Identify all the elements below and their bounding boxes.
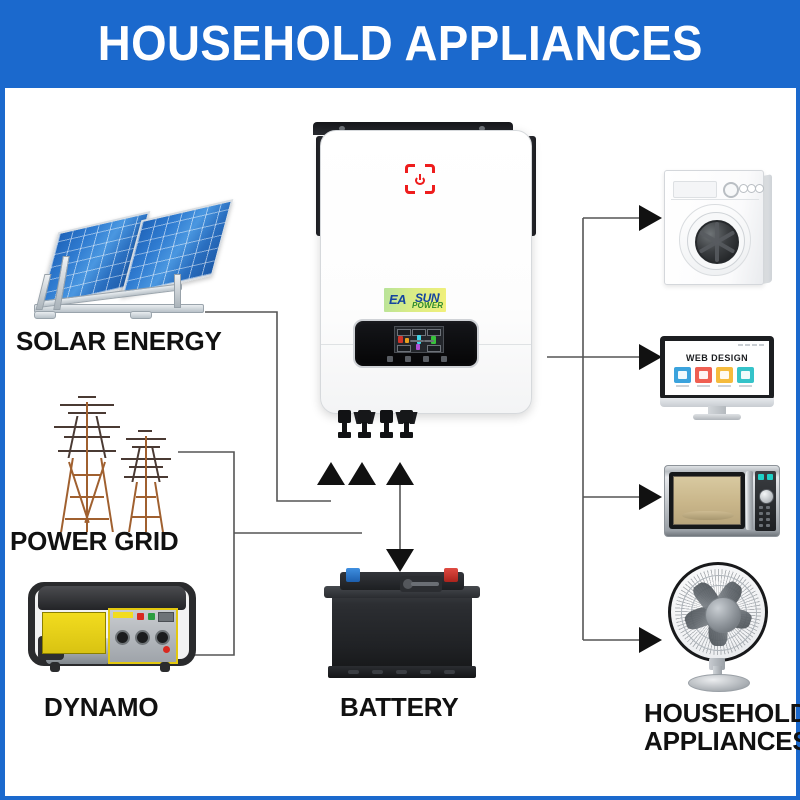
- inverter-display-bezel[interactable]: [353, 319, 479, 368]
- electric-fan-icon: [662, 562, 782, 690]
- washer-detergent-drawer: [673, 181, 717, 198]
- screen-tile-row: [674, 367, 754, 383]
- microwave-door: [669, 472, 745, 529]
- battery-positive-terminal: [444, 568, 458, 582]
- car-battery-icon: [322, 566, 482, 686]
- appliances-label-line1: HOUSEHOLD: [644, 700, 800, 728]
- battery-case: [332, 590, 472, 670]
- tower-large: [48, 396, 126, 532]
- logo-registered: ®: [437, 292, 440, 297]
- microwave-turntable: [682, 511, 734, 520]
- tower-small: [116, 430, 176, 532]
- monitor-screen: WEB DESIGN: [665, 341, 769, 395]
- power-button-icon[interactable]: [405, 164, 435, 194]
- dc-connector: [338, 410, 351, 440]
- generator-icon: [28, 578, 196, 674]
- logo-text-power: POWER: [412, 301, 443, 310]
- screen-tile-3: [716, 367, 733, 383]
- arrow-right-washer: [639, 205, 662, 231]
- screen-nav-dashes: [738, 344, 764, 346]
- fan-cage: [668, 562, 768, 662]
- computer-monitor-icon: WEB DESIGN: [660, 336, 778, 420]
- washer-door-glass: [695, 220, 739, 264]
- washing-machine-icon: [664, 170, 772, 288]
- battery-handle: [400, 576, 442, 592]
- washer-door: [679, 204, 751, 276]
- screen-tile-1: [674, 367, 691, 383]
- screen-tile-4: [737, 367, 754, 383]
- arrow-right-fan: [639, 627, 662, 653]
- lcd-display-icon: [394, 326, 444, 353]
- dynamo-label: DYNAMO: [44, 694, 158, 722]
- microwave-oven-icon: [664, 465, 780, 541]
- washer-door-ring: [687, 212, 745, 270]
- arrow-up-battery-in: [386, 462, 414, 485]
- down-key[interactable]: [423, 356, 429, 362]
- microwave-control-panel: [755, 471, 776, 531]
- generator-side-panel: [42, 612, 106, 654]
- battery-label: BATTERY: [340, 694, 458, 722]
- enter-key[interactable]: [441, 356, 447, 362]
- microwave-handle: [746, 471, 753, 530]
- arrow-right-monitor: [639, 344, 662, 370]
- washer-control-panel: [671, 179, 759, 200]
- esc-key[interactable]: [387, 356, 393, 362]
- screen-tile-2: [695, 367, 712, 383]
- ac-connector: [380, 410, 393, 440]
- generator-tank: [38, 586, 186, 610]
- screen-title: WEB DESIGN: [665, 353, 769, 363]
- washer-side-panel: [763, 174, 772, 284]
- inverter-connector-row: [295, 410, 545, 446]
- arrow-up-grid: [348, 462, 376, 485]
- microwave-dial: [759, 489, 774, 504]
- household-appliances-label: HOUSEHOLD APPLIANCES: [644, 700, 800, 756]
- logo-text-ea: EA: [389, 292, 406, 307]
- arrow-up-solar: [317, 462, 345, 485]
- solar-panel-icon: [18, 216, 218, 326]
- battery-negative-terminal: [346, 568, 360, 582]
- appliances-label-line2: APPLIANCES: [644, 728, 800, 756]
- inverter-unit[interactable]: EA SUN ® POWER: [295, 122, 545, 452]
- up-key[interactable]: [405, 356, 411, 362]
- washer-body: [664, 170, 764, 285]
- pv-connector: [358, 410, 371, 440]
- generator-control-panel: [108, 608, 178, 664]
- arrow-right-microwave: [639, 484, 662, 510]
- load-connector: [400, 410, 413, 440]
- microwave-window: [673, 476, 741, 525]
- fan-hub: [705, 597, 741, 633]
- monitor-stand-base: [693, 414, 741, 420]
- fan-base: [688, 674, 750, 692]
- transmission-tower-icon: [20, 396, 180, 532]
- solar-mounting-rack: [34, 278, 202, 320]
- easun-power-logo: EA SUN ® POWER: [384, 288, 446, 312]
- power-grid-label: POWER GRID: [10, 528, 178, 556]
- diagram-page: HOUSEHOLD APPLIANCES: [0, 0, 800, 800]
- solar-label: SOLAR ENERGY: [16, 328, 222, 356]
- washer-program-dial: [723, 182, 739, 198]
